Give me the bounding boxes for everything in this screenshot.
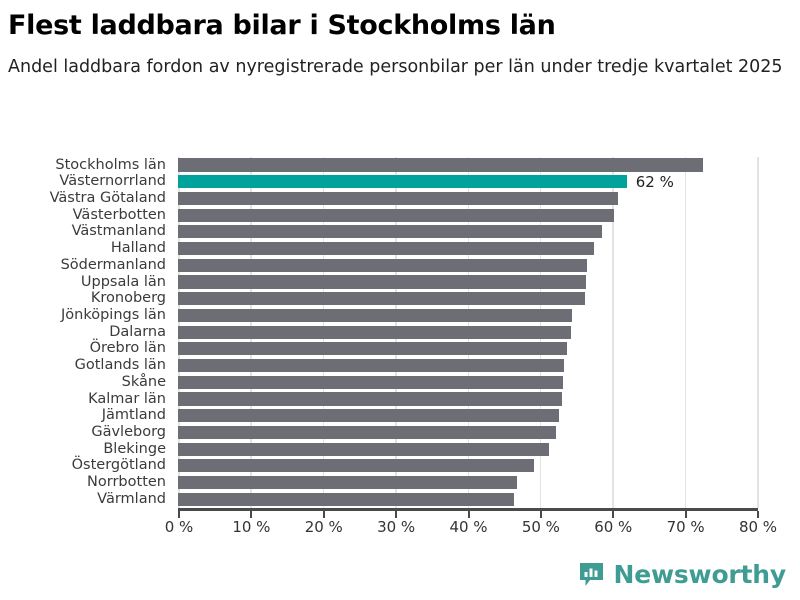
bar-row [178,408,757,426]
bar-sk-ne[interactable] [178,376,563,389]
bar-gotlands-l-n[interactable] [178,359,564,372]
x-tick-label-10: 10 % [232,518,270,536]
x-tick-20 [323,511,325,518]
bar-halland[interactable] [178,242,594,255]
x-tick-label-60: 60 % [594,518,632,536]
bar-row [178,458,757,476]
x-tick-30 [395,511,397,518]
gridline-80 [757,157,759,508]
y-axis-label-blekinge: Blekinge [103,441,166,459]
y-axis-label-norrbotten: Norrbotten [87,474,166,492]
bar-v-sternorrland[interactable] [178,175,627,188]
x-tick-40 [468,511,470,518]
chart-plot: Stockholms länVästernorrlandVästra Götal… [0,148,800,548]
y-axis-label-s-dermanland: Södermanland [61,257,166,275]
bar-v-stra-g-taland[interactable] [178,192,618,205]
y-axis-label-stockholms-l-n: Stockholms län [55,157,166,175]
bar-row [178,274,757,292]
bar-v-stmanland[interactable] [178,225,602,238]
x-tick-50 [540,511,542,518]
y-axis-label--sterg-tland: Östergötland [72,457,166,475]
bar-rows: 62 % [178,157,757,508]
plot-area: 62 % [178,157,757,508]
x-tick-70 [685,511,687,518]
y-axis-label-v-stmanland: Västmanland [72,223,166,241]
bar-row [178,441,757,459]
x-tick-80 [757,511,759,518]
bar--rebro-l-n[interactable] [178,342,567,355]
bar-row [178,241,757,259]
chart-title: Flest laddbara bilar i Stockholms län [8,10,788,41]
y-axis-label-sk-ne: Skåne [122,374,166,392]
x-tick-label-80: 80 % [739,518,777,536]
x-tick-10 [250,511,252,518]
bar-norrbotten[interactable] [178,476,517,489]
bar-value-label: 62 % [636,173,674,191]
x-tick-label-70: 70 % [667,518,705,536]
bar--sterg-tland[interactable] [178,459,534,472]
bar-row: 62 % [178,174,757,192]
bar-row [178,291,757,309]
bar-row [178,207,757,225]
y-axis-label-halland: Halland [111,240,166,258]
y-axis-label-v-stra-g-taland: Västra Götaland [50,190,166,208]
bar-v-sterbotten[interactable] [178,209,614,222]
bar-row [178,491,757,509]
y-axis-label-j-mtland: Jämtland [102,407,166,425]
footer-logo: Newsworthy [578,561,787,588]
chart-header: Flest laddbara bilar i Stockholms län An… [0,0,800,80]
x-tick-60 [612,511,614,518]
bar-j-nk-pings-l-n[interactable] [178,309,572,322]
y-axis-label-v-sterbotten: Västerbotten [73,207,166,225]
logo-text: Newsworthy [614,562,787,587]
bar-row [178,391,757,409]
x-tick-label-20: 20 % [305,518,343,536]
chart-page: Flest laddbara bilar i Stockholms län An… [0,0,800,600]
bar-row [178,341,757,359]
bar-dalarna[interactable] [178,326,571,339]
y-axis-label-dalarna: Dalarna [109,324,166,342]
y-axis-label-kalmar-l-n: Kalmar län [88,391,166,409]
bar-row [178,358,757,376]
bar-kalmar-l-n[interactable] [178,392,562,405]
bar-row [178,190,757,208]
bar-row [178,374,757,392]
bar-v-rmland[interactable] [178,493,514,506]
x-tick-label-40: 40 % [449,518,487,536]
bar-kronoberg[interactable] [178,292,585,305]
y-axis-label--rebro-l-n: Örebro län [90,340,166,358]
bar-g-vleborg[interactable] [178,426,556,439]
y-axis-label-kronoberg: Kronoberg [91,290,166,308]
y-axis-label-v-rmland: Värmland [97,491,166,509]
bar-stockholms-l-n[interactable] [178,158,703,171]
bar-blekinge[interactable] [178,443,549,456]
bar-uppsala-l-n[interactable] [178,275,586,288]
y-axis-label-v-sternorrland: Västernorrland [59,173,166,191]
x-tick-label-0: 0 % [165,518,194,536]
chart-subtitle: Andel laddbara fordon av nyregistrerade … [8,55,788,80]
bar-s-dermanland[interactable] [178,259,587,272]
bar-row [178,224,757,242]
x-tick-label-30: 30 % [377,518,415,536]
bar-j-mtland[interactable] [178,409,559,422]
y-axis-label-gotlands-l-n: Gotlands län [75,357,166,375]
bar-row [178,324,757,342]
y-axis-labels: Stockholms länVästernorrlandVästra Götal… [0,157,172,508]
bar-chart-speech-bubble-icon [578,561,605,588]
x-tick-0 [178,511,180,518]
y-axis-label-j-nk-pings-l-n: Jönköpings län [61,307,166,325]
bar-row [178,307,757,325]
y-axis-label-uppsala-l-n: Uppsala län [81,274,166,292]
bar-row [178,257,757,275]
bar-row [178,475,757,493]
y-axis-label-g-vleborg: Gävleborg [91,424,166,442]
bar-row [178,424,757,442]
x-tick-label-50: 50 % [522,518,560,536]
